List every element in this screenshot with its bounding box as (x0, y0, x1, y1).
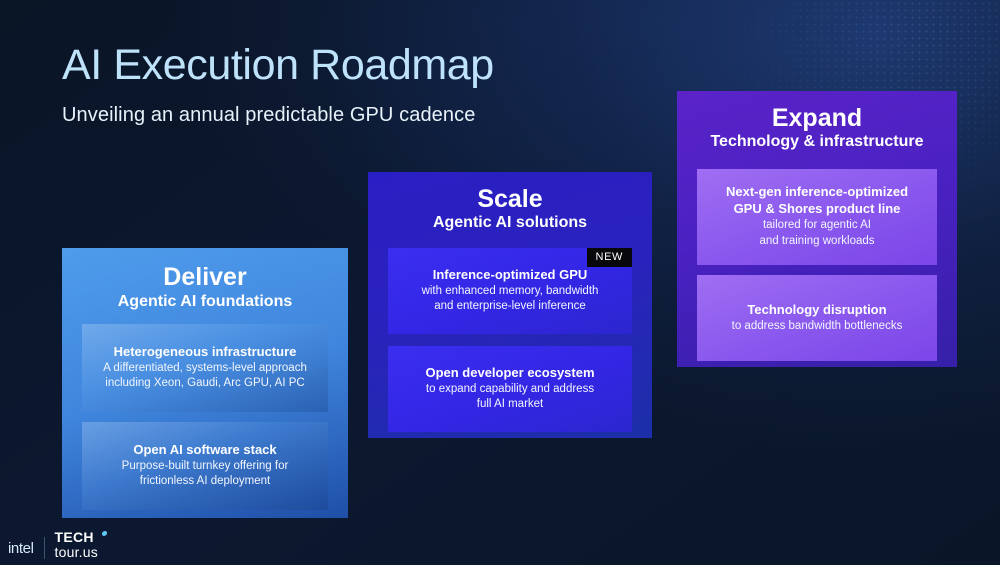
card-desc-line-1: tailored for agentic AI (697, 218, 937, 234)
footer-logos: intel TECH tour.us (8, 530, 98, 559)
page-title: AI Execution Roadmap (62, 44, 494, 87)
card-heterogeneous-infrastructure[interactable]: Heterogeneous infrastructure A different… (82, 324, 328, 412)
card-title-line-2: GPU & Shores product line (697, 201, 937, 218)
slide-root: AI Execution Roadmap Unveiling an annual… (0, 0, 1000, 565)
logo-divider (44, 537, 45, 559)
card-desc-line-2: and training workloads (697, 234, 937, 250)
card-title: Open developer ecosystem (388, 365, 632, 382)
card-desc-line-2: including Xeon, Gaudi, Arc GPU, AI PC (82, 376, 328, 392)
card-inference-optimized-gpu[interactable]: NEW Inference-optimized GPU with enhance… (388, 248, 632, 334)
panel-deliver[interactable]: Deliver Agentic AI foundations Heterogen… (62, 248, 348, 518)
card-title: Heterogeneous infrastructure (82, 344, 328, 361)
intel-logo: intel (8, 541, 34, 559)
card-open-developer-ecosystem[interactable]: Open developer ecosystem to expand capab… (388, 346, 632, 432)
card-open-ai-software-stack[interactable]: Open AI software stack Purpose-built tur… (82, 422, 328, 510)
card-desc-line-1: A differentiated, systems-level approach (82, 361, 328, 377)
slide-header: AI Execution Roadmap Unveiling an annual… (62, 44, 494, 127)
card-next-gen-gpu-shores[interactable]: Next-gen inference-optimized GPU & Shore… (697, 169, 937, 265)
panel-expand-subtitle: Technology & infrastructure (677, 133, 957, 151)
panel-deliver-header: Deliver Agentic AI foundations (62, 248, 348, 312)
card-desc-line-1: Purpose-built turnkey offering for (82, 459, 328, 475)
tech-tour-bottom-text: tour.us (55, 545, 98, 559)
card-title: Technology disruption (697, 302, 937, 319)
panel-scale-subtitle: Agentic AI solutions (368, 214, 652, 232)
card-title-line-1: Next-gen inference-optimized (697, 184, 937, 201)
panel-scale[interactable]: Scale Agentic AI solutions NEW Inference… (368, 172, 652, 438)
card-title: Open AI software stack (82, 442, 328, 459)
card-desc-line-1: with enhanced memory, bandwidth (388, 284, 632, 300)
card-desc-line-2: full AI market (388, 397, 632, 413)
card-desc-line-1: to expand capability and address (388, 382, 632, 398)
panel-deliver-title: Deliver (62, 264, 348, 290)
card-desc-line-2: frictionless AI deployment (82, 474, 328, 490)
panel-expand-header: Expand Technology & infrastructure (677, 91, 957, 152)
tech-tour-logo: TECH tour.us (55, 530, 98, 559)
card-title: Inference-optimized GPU (388, 267, 632, 284)
panel-expand-title: Expand (677, 105, 957, 131)
page-subtitle: Unveiling an annual predictable GPU cade… (62, 104, 494, 127)
accent-dot-icon (101, 531, 107, 536)
panel-deliver-subtitle: Agentic AI foundations (62, 293, 348, 311)
status-badge-new: NEW (587, 248, 632, 267)
card-technology-disruption[interactable]: Technology disruption to address bandwid… (697, 275, 937, 361)
card-desc-line-2: and enterprise-level inference (388, 299, 632, 315)
panel-scale-title: Scale (368, 186, 652, 212)
panel-expand[interactable]: Expand Technology & infrastructure Next-… (677, 91, 957, 367)
tech-tour-top-text: TECH (55, 530, 98, 544)
card-desc-line-1: to address bandwidth bottlenecks (697, 319, 937, 335)
panel-scale-header: Scale Agentic AI solutions (368, 172, 652, 233)
